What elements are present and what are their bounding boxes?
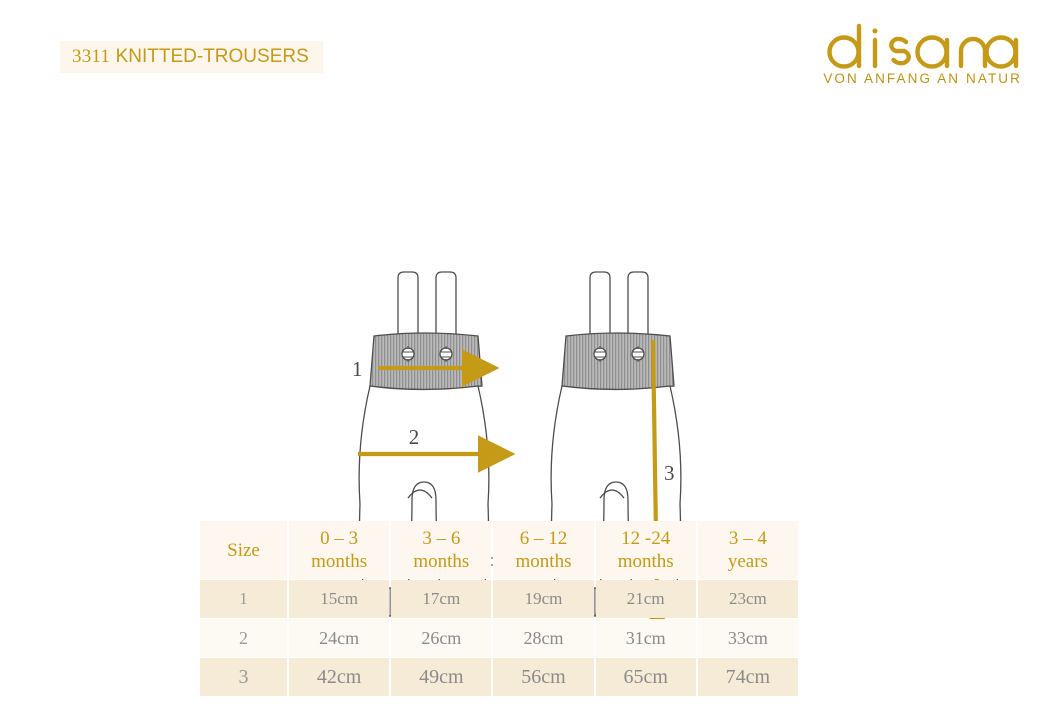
table-cell: 42cm <box>289 658 389 696</box>
page-title: KNITTED-TROUSERS <box>116 46 309 67</box>
front-strap-left <box>398 272 418 340</box>
table-cell: 28cm <box>493 619 593 657</box>
table-cell: 31cm <box>596 619 696 657</box>
front-strap-right <box>436 272 456 340</box>
table-cell: 33cm <box>698 619 798 657</box>
column-header-2-line1: 3 – 6 <box>391 527 491 550</box>
measure-1-label: 1 <box>352 357 363 381</box>
table-cell: 15cm <box>289 580 389 618</box>
logo-dot-icon <box>873 29 878 34</box>
column-header-5-line1: 3 – 4 <box>698 527 798 550</box>
table-cell: 19cm <box>493 580 593 618</box>
product-illustration: 1 2 3 <box>0 130 1040 510</box>
column-header-3-6-months: 3 – 6 months <box>391 521 491 579</box>
column-header-size: Size <box>200 521 287 579</box>
table-row: 1 15cm 17cm 19cm 21cm 23cm <box>200 580 798 618</box>
brand-tagline: VON ANFANG AN NATUR <box>822 71 1022 86</box>
back-strap-left <box>590 272 610 340</box>
back-waistband <box>562 333 674 390</box>
row-index: 2 <box>200 619 287 657</box>
column-header-3-line2: months <box>493 550 593 573</box>
table-cell: 23cm <box>698 580 798 618</box>
table-cell: 21cm <box>596 580 696 618</box>
table-cell: 65cm <box>596 658 696 696</box>
disana-logo-icon <box>822 22 1022 70</box>
column-header-0-3-months: 0 – 3 months <box>289 521 389 579</box>
column-header-3-line1: 6 – 12 <box>493 527 593 550</box>
row-index: 1 <box>200 580 287 618</box>
size-chart-table: Size 0 – 3 months 3 – 6 months 6 – 12 mo… <box>198 520 800 697</box>
column-header-6-12-months: 6 – 12 months <box>493 521 593 579</box>
table-row: 3 42cm 49cm 56cm 65cm 74cm <box>200 658 798 696</box>
column-header-1-line2: months <box>289 550 389 573</box>
column-header-3-4-years: 3 – 4 years <box>698 521 798 579</box>
column-header-2-line2: months <box>391 550 491 573</box>
front-waistband <box>370 333 482 390</box>
table-cell: 74cm <box>698 658 798 696</box>
product-title-badge: 3311 KNITTED-TROUSERS <box>60 41 323 73</box>
row-index: 3 <box>200 658 287 696</box>
brand-logo-block: VON ANFANG AN NATUR <box>822 22 1022 86</box>
product-code: 3311 <box>72 46 110 67</box>
table-cell: 26cm <box>391 619 491 657</box>
table-cell: 49cm <box>391 658 491 696</box>
measure-2-label: 2 <box>409 425 420 449</box>
column-header-4-line2: months <box>596 550 696 573</box>
size-chart-header: Size 0 – 3 months 3 – 6 months 6 – 12 mo… <box>200 521 798 579</box>
size-chart-body: 1 15cm 17cm 19cm 21cm 23cm 2 24cm 26cm 2… <box>200 580 798 696</box>
column-header-size-line1: Size <box>200 539 287 562</box>
table-row: 2 24cm 26cm 28cm 31cm 33cm <box>200 619 798 657</box>
column-header-1-line1: 0 – 3 <box>289 527 389 550</box>
back-strap-right <box>628 272 648 340</box>
column-header-4-line1: 12 -24 <box>596 527 696 550</box>
table-header-row: Size 0 – 3 months 3 – 6 months 6 – 12 mo… <box>200 521 798 579</box>
column-header-5-line2: years <box>698 550 798 573</box>
column-header-12-24-months: 12 -24 months <box>596 521 696 579</box>
table-cell: 24cm <box>289 619 389 657</box>
page-header: 3311 KNITTED-TROUSERS <box>0 0 1040 110</box>
table-cell: 17cm <box>391 580 491 618</box>
measure-3-label: 3 <box>664 461 675 485</box>
table-cell: 56cm <box>493 658 593 696</box>
